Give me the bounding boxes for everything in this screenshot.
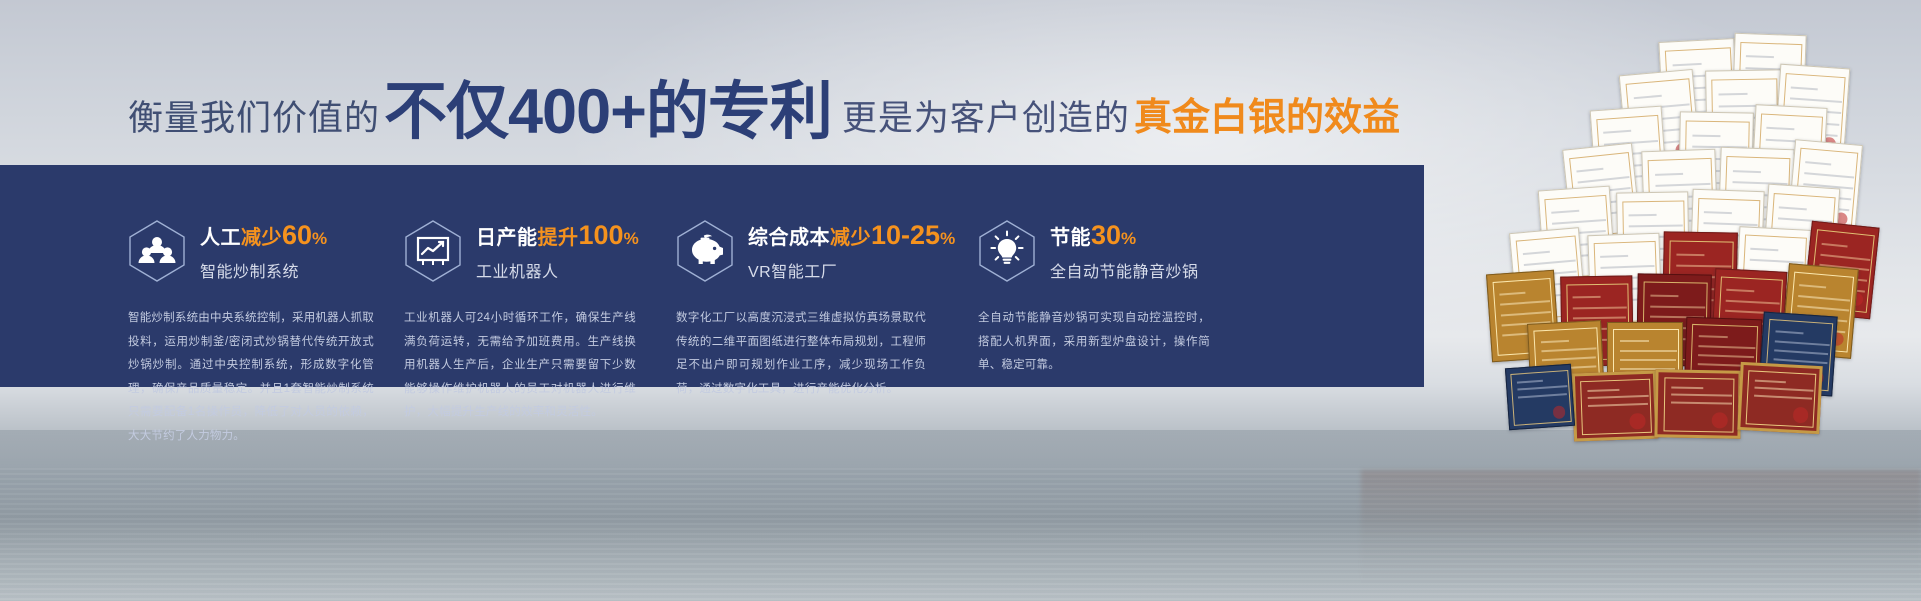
certificate-item <box>1619 69 1701 175</box>
features-panel: 人工减少60% 智能炒制系统 智能炒制系统由中央系统控制，采用机器人抓取投料，运… <box>0 165 1424 387</box>
feature-description: 工业机器人可24小时循环工作，确保生产线满负荷运转，无需给予加班费用。生产线换用… <box>404 307 636 425</box>
lightbulb-icon <box>978 219 1036 283</box>
certificate-item <box>1654 369 1741 438</box>
feature-item-energy: 节能30% 全自动节能静音炒锅 全自动节能静音炒锅可实现自动控温控时，搭配人机界… <box>978 165 1228 387</box>
feature-description: 数字化工厂以高度沉浸式三维虚拟仿真场景取代传统的二维平面图纸进行整体布局规划，工… <box>676 307 926 401</box>
certificate-wall <box>1361 0 1921 601</box>
feature-title-number: 100 <box>579 220 624 250</box>
feature-description: 智能炒制系统由中央系统控制，采用机器人抓取投料，运用炒制釜/密闭式炒锅替代传统开… <box>128 307 374 448</box>
feature-title-unit: % <box>1121 229 1137 248</box>
feature-title: 综合成本减少10-25% <box>748 221 956 251</box>
certificate-wall-reflection <box>1361 470 1921 585</box>
certificate-item <box>1505 364 1575 430</box>
certificate-item <box>1658 38 1739 144</box>
certificate-item <box>1572 371 1658 442</box>
certificate-item <box>1762 184 1841 285</box>
certificate-item <box>1781 263 1859 359</box>
feature-subtitle: 全自动节能静音炒锅 <box>1050 258 1199 282</box>
feature-title-keyword: 提升 <box>538 227 579 249</box>
certificate-item <box>1538 186 1617 287</box>
certificate-item <box>1705 69 1783 172</box>
certificate-item <box>1717 147 1794 250</box>
certificate-item <box>1616 191 1690 288</box>
feature-title: 人工减少60% <box>200 221 328 251</box>
feature-title-keyword: 减少 <box>241 227 282 249</box>
feature-title-number: 10-25 <box>871 220 940 250</box>
certificate-item <box>1802 221 1879 320</box>
certificate-item <box>1509 227 1587 327</box>
feature-title-prefix: 节能 <box>1050 227 1091 249</box>
feature-title-unit: % <box>624 229 640 248</box>
piggy-bank-icon <box>676 219 734 283</box>
feature-title-number: 60 <box>282 220 312 250</box>
certificate-item <box>1678 111 1754 212</box>
certificate-item <box>1562 143 1642 246</box>
certificate-item <box>1750 104 1827 206</box>
certificate-item <box>1607 322 1683 402</box>
feature-title-keyword: 减少 <box>830 227 871 249</box>
feature-title-unit: % <box>312 229 328 248</box>
feature-item-cost: 综合成本减少10-25% VR智能工厂 数字化工厂以高度沉浸式三维虚拟仿真场景取… <box>676 165 946 387</box>
certificate-item <box>1684 317 1763 400</box>
horizon-gradient <box>0 430 1921 601</box>
certificate-item <box>1774 64 1851 165</box>
certificate-item <box>1486 270 1560 363</box>
headline-emphasis: 不仅400+的专利 <box>384 81 832 144</box>
headline-middle: 更是为客户创造的 <box>842 101 1130 136</box>
certificate-item <box>1662 231 1738 328</box>
feature-title-unit: % <box>940 229 956 248</box>
certificate-item <box>1527 320 1605 402</box>
certificate-item <box>1587 233 1662 329</box>
page-title: 衡量我们价值的 不仅400+的专利 更是为客户创造的 真金白银的效益 <box>128 78 1400 141</box>
promo-banner: 衡量我们价值的 不仅400+的专利 更是为客户创造的 真金白银的效益 <box>0 0 1921 601</box>
feature-title-prefix: 综合成本 <box>748 227 830 249</box>
feature-title-number: 30 <box>1091 220 1121 250</box>
people-group-icon <box>128 219 186 283</box>
feature-subtitle: 智能炒制系统 <box>200 258 328 282</box>
feature-subtitle: 工业机器人 <box>476 258 639 282</box>
certificate-item <box>1737 362 1822 434</box>
certificate-item <box>1711 268 1788 362</box>
certificate-item <box>1787 139 1863 239</box>
feature-description: 全自动节能静音炒锅可实现自动控温控时，搭配人机界面，采用新型炉盘设计，操作简单、… <box>978 307 1210 378</box>
certificate-item <box>1641 149 1718 252</box>
chart-board-icon <box>404 219 462 283</box>
certificate-item <box>1689 189 1764 287</box>
certificate-item <box>1731 33 1806 133</box>
certificate-item <box>1735 226 1812 324</box>
feature-title: 日产能提升100% <box>476 221 639 251</box>
certificate-item <box>1560 275 1634 366</box>
feature-title: 节能30% <box>1050 221 1199 251</box>
feature-item-labor: 人工减少60% 智能炒制系统 智能炒制系统由中央系统控制，采用机器人抓取投料，运… <box>128 165 394 387</box>
feature-title-prefix: 人工 <box>200 227 241 249</box>
certificate-item <box>1636 273 1712 366</box>
headline-lead: 衡量我们价值的 <box>128 101 380 136</box>
feature-title-prefix: 日产能 <box>476 227 538 249</box>
headline-highlight: 真金白银的效益 <box>1134 99 1400 137</box>
certificate-item <box>1758 312 1837 397</box>
feature-subtitle: VR智能工厂 <box>748 258 956 282</box>
feature-item-capacity: 日产能提升100% 工业机器人 工业机器人可24小时循环工作，确保生产线满负荷运… <box>404 165 666 387</box>
certificate-item <box>1590 106 1669 209</box>
water-shimmer <box>0 468 1921 601</box>
